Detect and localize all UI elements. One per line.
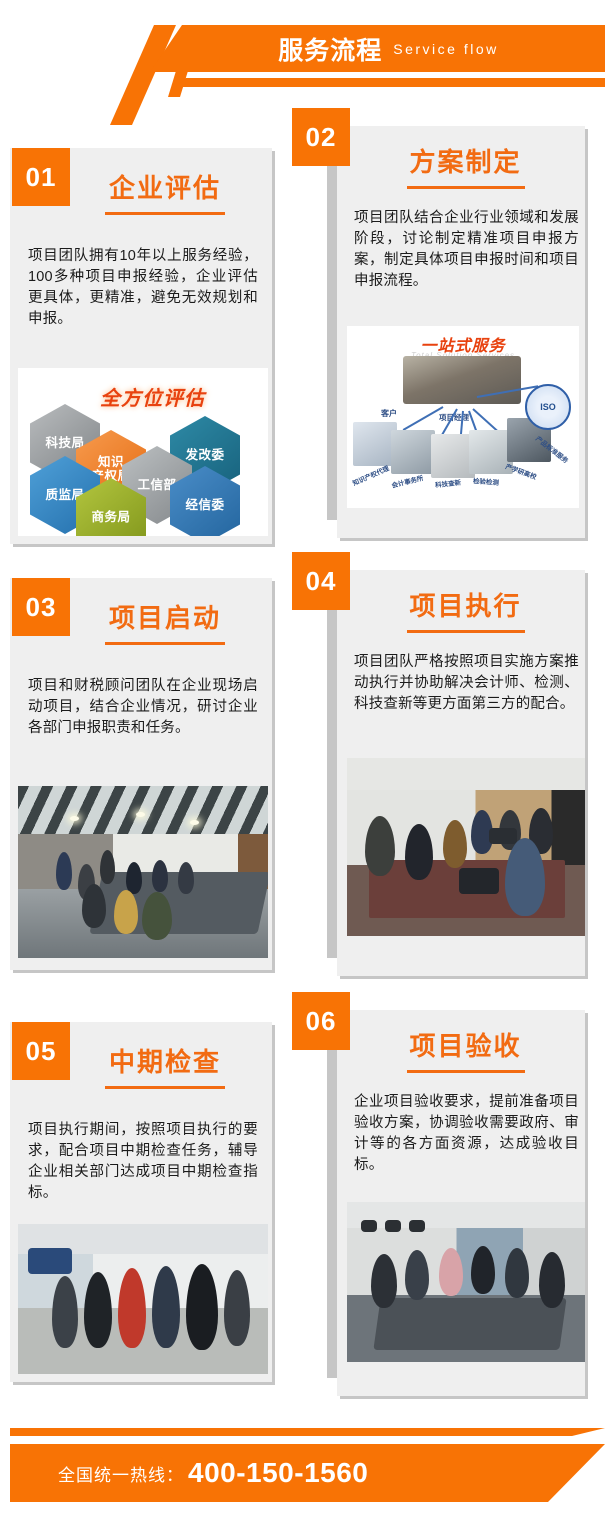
card-02-header: 方案制定 [352,142,579,189]
card-04-photo-scene [347,758,585,936]
one-stop-arrow-1 [403,406,444,431]
scene-person [114,890,138,934]
page-footer: 全国统一热线： 400-150-1560 [0,1420,605,1520]
one-stop-node-label-4: 产学研高校 [504,461,538,482]
card-03-number-badge: 03 [12,578,70,636]
card-02-spine [327,166,337,520]
card-03-photo-scene [18,786,268,958]
scene-person [56,852,72,890]
card-01-title-rule [105,212,225,215]
scene-light [70,816,79,821]
card-06-number-badge: 06 [292,992,350,1050]
card-03-title: 项目启动 [72,598,258,635]
card-05-title-rule [105,1086,225,1089]
footer-thin-bar [10,1428,605,1436]
page-header: 服务流程 Service flow [0,0,605,100]
card-06-header: 项目验收 [352,1026,579,1073]
card-05-description: 项目执行期间，按照项目执行的要求，配合项目中期检查任务，辅导企业相关部门达成项目… [28,1120,258,1204]
scene-laptop [459,868,499,894]
scene-light [136,812,145,817]
scene-frame [385,1220,401,1232]
hex-node-jingxinwei-label: 经信委 [185,498,224,512]
card-04-spine [327,610,337,958]
one-stop-client-label: 客户 [381,408,397,419]
scene-display-board [28,1248,72,1274]
card-04-title: 项目执行 [352,586,579,623]
card-06-description: 企业项目验收要求，提前准备项目验收方案，协调验收需要政府、审计等的各方面资源，达… [354,1092,579,1176]
scene-frame [409,1220,425,1232]
hex-diagram-title: 全方位评估 [100,382,205,411]
card-06-spine [327,1050,337,1378]
hex-node-fagaiwei-label: 发改委 [185,448,224,462]
one-stop-seal-icon: ISO [525,384,571,430]
step-card-01[interactable]: 01 企业评估 项目团队拥有10年以上服务经验，100多种项目申报经验，企业评估… [10,148,272,544]
scene-person [178,862,194,894]
card-01-image: 全方位评估 科技局 知识产权局 发改委 质监局 工信部 经信委 商务局 [18,368,268,536]
card-04-description: 项目团队严格按照项目实施方案推动执行并协助解决会计师、检测、科技查新等更方面第三… [354,652,579,715]
one-stop-node-1 [391,430,435,474]
card-05-number-badge: 05 [12,1022,70,1080]
footer-hotline-group: 全国统一热线： 400-150-1560 [58,1444,368,1502]
scene-table [373,1298,566,1350]
scene-laptop [489,828,517,844]
card-05-photo-scene [18,1224,268,1374]
card-06-image [347,1202,585,1362]
scene-person [82,884,106,928]
scene-person [152,860,168,892]
page-title: 服务流程 [278,31,382,67]
hex-node-shangwuju-label: 商务局 [91,510,130,524]
scene-person [126,862,142,894]
card-01-description: 项目团队拥有10年以上服务经验，100多种项目申报经验，企业评估更具体，更精准，… [28,246,258,330]
card-01-number-badge: 01 [12,148,70,206]
card-03-header: 项目启动 [72,598,258,645]
card-04-image [347,758,585,936]
step-card-04[interactable]: 04 项目执行 项目团队严格按照项目实施方案推动执行并协助解决会计师、检测、科技… [292,552,593,982]
card-05-header: 中期检查 [72,1042,258,1089]
page-subtitle: Service flow [393,41,498,57]
header-title-group: 服务流程 Service flow [150,25,605,72]
hex-diagram: 全方位评估 科技局 知识产权局 发改委 质监局 工信部 经信委 商务局 [18,368,268,536]
footer-hotline-label: 全国统一热线： [58,1461,184,1486]
step-card-03[interactable]: 03 项目启动 项目和财税顾问团队在企业现场启动项目，结合企业情况，研讨企业各部… [10,578,272,978]
step-card-02[interactable]: 02 方案制定 项目团队结合企业行业领域和发展阶段，讨论制定精准项目申报方案，制… [292,108,593,538]
card-04-header: 项目执行 [352,586,579,633]
step-card-06[interactable]: 06 项目验收 企业项目验收要求，提前准备项目验收方案，协调验收需要政府、审计等… [292,992,593,1396]
card-02-description: 项目团队结合企业行业领域和发展阶段，讨论制定精准项目申报方案，制定具体项目申报时… [354,208,579,292]
card-02-title: 方案制定 [352,142,579,179]
scene-person [100,850,115,884]
card-02-number-badge: 02 [292,108,350,166]
one-stop-node-label-3: 检验检测 [473,475,500,487]
one-stop-node-label-2: 科技查新 [435,477,462,490]
one-stop-diagram: 一站式服务 Total Solution Services 客户 项目经理 IS… [347,326,579,508]
card-06-photo-scene [347,1202,585,1362]
card-03-description: 项目和财税顾问团队在企业现场启动项目，结合企业情况，研讨企业各部门申报职责和任务… [28,676,258,739]
card-03-title-rule [105,642,225,645]
card-04-title-rule [407,630,525,633]
card-03-image [18,786,268,958]
header-underbar [176,78,605,87]
card-02-image: 一站式服务 Total Solution Services 客户 项目经理 IS… [347,326,579,508]
card-04-number-badge: 04 [292,552,350,610]
card-01-title: 企业评估 [72,168,258,205]
card-06-title-rule [407,1070,525,1073]
card-05-image [18,1224,268,1374]
one-stop-node-label-1: 会计事务所 [390,472,424,490]
one-stop-node-label-0: 知识产权代理 [351,463,391,488]
scene-frame [361,1220,377,1232]
scene-light [190,820,199,825]
card-01-header: 企业评估 [72,168,258,215]
card-06-title: 项目验收 [352,1026,579,1063]
hex-node-keji-label: 科技局 [45,436,84,450]
one-stop-hub-photo [403,356,521,404]
card-05-title: 中期检查 [72,1042,258,1079]
footer-hotline-number[interactable]: 400-150-1560 [188,1457,368,1489]
card-02-title-rule [407,186,525,189]
step-card-05[interactable]: 05 中期检查 项目执行期间，按照项目执行的要求，配合项目中期检查任务，辅导企业… [10,1022,272,1388]
